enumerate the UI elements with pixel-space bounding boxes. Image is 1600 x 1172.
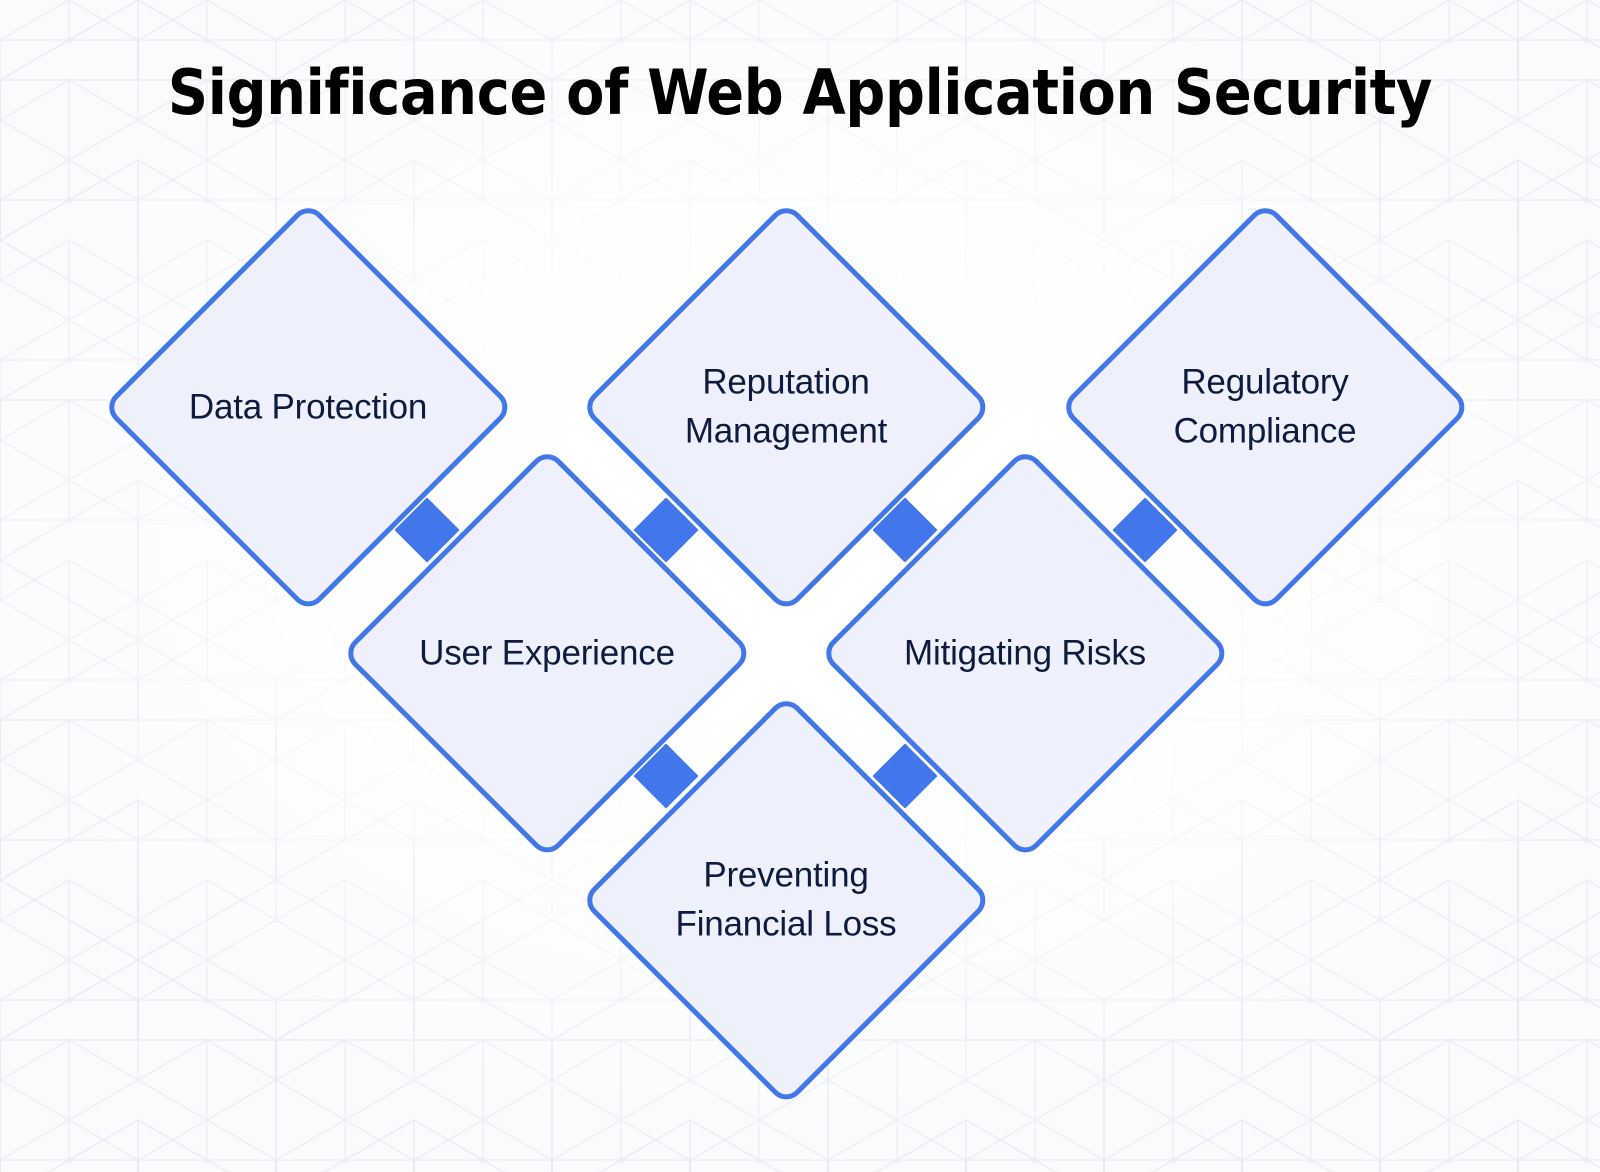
- diamond-node-label: Data Protection: [143, 382, 473, 432]
- infographic-page: Significance of Web Application Security…: [0, 0, 1600, 1172]
- page-title: Significance of Web Application Security: [0, 56, 1600, 129]
- diamond-lattice-diagram: Data ProtectionReputation ManagementRegu…: [0, 0, 1600, 1172]
- diamond-node-label: Mitigating Risks: [860, 628, 1190, 678]
- diamond-node-label: User Experience: [382, 628, 712, 678]
- diamond-node-preventing-financial-loss[interactable]: Preventing Financial Loss: [574, 688, 997, 1111]
- diamond-node-label: Preventing Financial Loss: [621, 850, 951, 949]
